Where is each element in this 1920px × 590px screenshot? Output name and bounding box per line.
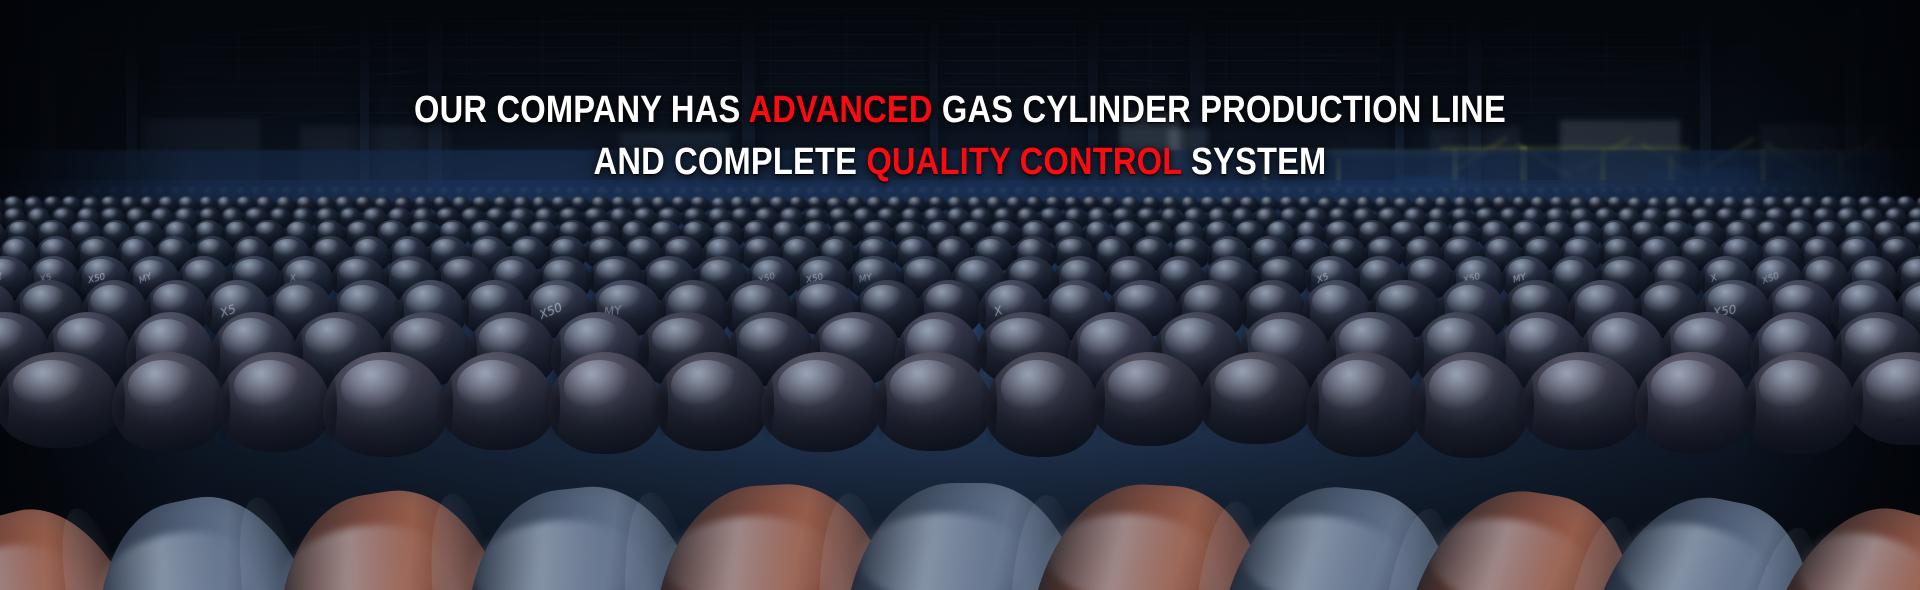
gas-cylinder-dome [441, 352, 555, 450]
barrel-highlight [661, 512, 837, 590]
gas-cylinder-dome [874, 352, 992, 451]
gas-cylinder-dome [112, 352, 225, 452]
gas-cylinder-dome [655, 352, 768, 451]
gas-cylinder-dome [1306, 352, 1420, 457]
gas-cylinder-dome [218, 352, 331, 452]
gas-cylinder-dome [1849, 352, 1920, 445]
gas-cylinder-dome [548, 352, 663, 454]
hero-banner: X50MYX5X50MYXX50X50MYX5X50MYXX50X50MYX5X… [0, 0, 1920, 590]
gas-cylinder-dome [323, 352, 448, 457]
gas-cylinder-dome [1413, 352, 1528, 458]
barrel-highlight [89, 519, 261, 590]
gas-cylinder-dome [1635, 352, 1750, 454]
rack-beam [1745, 150, 1905, 156]
gas-cylinder-dome [985, 352, 1100, 457]
barrel-highlight [1788, 518, 1920, 590]
barrel-highlight [1237, 508, 1412, 590]
gas-cylinder-dome [0, 352, 120, 448]
barrel-highlight [274, 514, 450, 590]
gas-cylinder-dome [761, 352, 881, 452]
barrel-highlight [1609, 511, 1781, 590]
barrel-highlight [1045, 510, 1219, 590]
barrel-highlight [857, 513, 1029, 590]
cylinder-row [0, 352, 1920, 452]
gas-cylinder-field: X50MYX5X50MYXX50X50MYX5X50MYXX50X50MYX5X… [0, 180, 1920, 590]
gas-cylinder-dome [1521, 352, 1643, 450]
gas-cylinder-dome [1092, 352, 1206, 446]
gas-cylinder-dome [1743, 352, 1856, 454]
barrel-highlight [1424, 508, 1598, 590]
gas-cylinder-dome [1199, 352, 1314, 444]
barrel-highlight [468, 512, 644, 590]
